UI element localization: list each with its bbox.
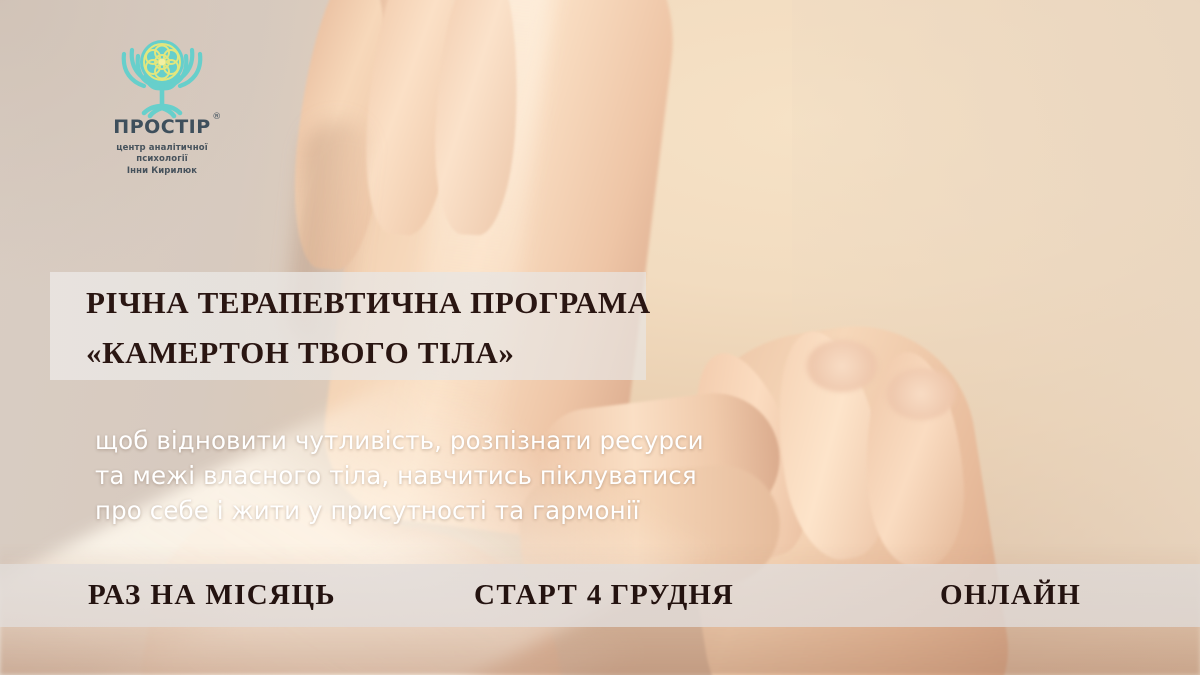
description-line-3: про себе і жити у присутності та гармоні… <box>95 494 795 529</box>
brand-tagline-line1: центр аналітичної психології <box>92 143 232 166</box>
registered-mark: ® <box>212 113 222 122</box>
brand-tagline-line2: Інни Кирилюк <box>92 166 232 177</box>
footer-frequency: РАЗ НА МІСЯЦЬ <box>88 579 336 612</box>
description-line-2: та межі власного тіла, навчитись піклува… <box>95 459 795 494</box>
description-text: щоб відновити чутливість, розпізнати рес… <box>95 424 795 528</box>
footer-format: ОНЛАЙН <box>940 579 1081 612</box>
title-line-1: РІЧНА ТЕРАПЕВТИЧНА ПРОГРАМА <box>86 278 686 328</box>
brand-wordmark: ПРОСТІР® <box>113 118 210 137</box>
description-line-1: щоб відновити чутливість, розпізнати рес… <box>95 424 795 459</box>
brand-name: ПРОСТІР <box>113 116 210 138</box>
footer-start-label: СТАРТ <box>474 579 578 611</box>
footer-start-date: СТАРТ 4 ГРУДНЯ <box>474 579 734 612</box>
footer-bar: РАЗ НА МІСЯЦЬ СТАРТ 4 ГРУДНЯ ОНЛАЙН <box>0 564 1200 627</box>
poster: ПРОСТІР® центр аналітичної психології Ін… <box>0 0 1200 675</box>
brand-logo: ПРОСТІР® центр аналітичної психології Ін… <box>92 24 232 164</box>
title-line-2: «КАМЕРТОН ТВОГО ТІЛА» <box>86 328 686 378</box>
page-title: РІЧНА ТЕРАПЕВТИЧНА ПРОГРАМА «КАМЕРТОН ТВ… <box>86 278 686 378</box>
brand-tagline: центр аналітичної психології Інни Кирилю… <box>92 143 232 177</box>
tree-mandala-icon <box>110 24 214 120</box>
footer-start-value: 4 ГРУДНЯ <box>587 579 734 611</box>
